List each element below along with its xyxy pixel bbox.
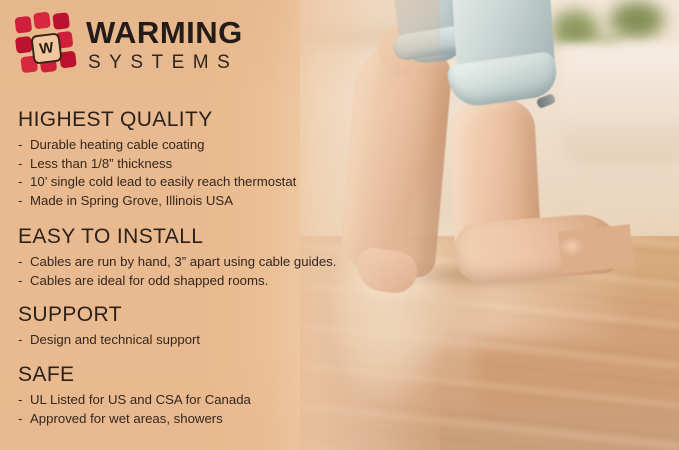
feature-bullet: -Cables are ideal for odd shapped rooms.: [18, 272, 336, 291]
feature-bullet: -Cables are run by hand, 3” apart using …: [18, 253, 336, 272]
section-heading: EASY TO INSTALL: [18, 225, 336, 248]
feature-bullet: -Less than 1/8” thickness: [18, 155, 296, 174]
bullet-marker: -: [18, 192, 22, 211]
feature-bullet-list: -Design and technical support: [18, 331, 200, 350]
feature-bullet: -Approved for wet areas, showers: [18, 410, 251, 429]
feature-bullet: -UL Listed for US and CSA for Canada: [18, 391, 251, 410]
section-heading: HIGHEST QUALITY: [18, 108, 296, 131]
feature-bullet-list: -UL Listed for US and CSA for Canada-App…: [18, 391, 251, 428]
feature-bullet-text: Approved for wet areas, showers: [30, 411, 223, 426]
bullet-marker: -: [18, 331, 22, 350]
bullet-marker: -: [18, 155, 22, 174]
feature-bullet-text: Design and technical support: [30, 332, 200, 347]
feature-bullet-text: Cables are ideal for odd shapped rooms.: [30, 273, 268, 288]
feature-section: SAFE-UL Listed for US and CSA for Canada…: [18, 363, 251, 428]
feature-sections: HIGHEST QUALITY-Durable heating cable co…: [0, 0, 440, 450]
feature-bullet-text: UL Listed for US and CSA for Canada: [30, 392, 251, 407]
feature-bullet-text: Cables are run by hand, 3” apart using c…: [30, 254, 336, 269]
feature-section: SUPPORT-Design and technical support: [18, 303, 200, 350]
feature-bullet-list: -Cables are run by hand, 3” apart using …: [18, 253, 336, 290]
feature-bullet: -Made in Spring Grove, Illinois USA: [18, 192, 296, 211]
bullet-marker: -: [18, 136, 22, 155]
bullet-marker: -: [18, 253, 22, 272]
bullet-marker: -: [18, 173, 22, 192]
feature-bullet-text: Durable heating cable coating: [30, 137, 205, 152]
feature-bullet-text: Less than 1/8” thickness: [30, 156, 172, 171]
section-heading: SUPPORT: [18, 303, 200, 326]
bullet-marker: -: [18, 410, 22, 429]
section-heading: SAFE: [18, 363, 251, 386]
feature-bullet-list: -Durable heating cable coating-Less than…: [18, 136, 296, 210]
feature-bullet-text: Made in Spring Grove, Illinois USA: [30, 193, 233, 208]
product-feature-banner: W WARMING SYSTEMS HIGHEST QUALITY-Durabl…: [0, 0, 679, 450]
feature-section: HIGHEST QUALITY-Durable heating cable co…: [18, 108, 296, 210]
bullet-marker: -: [18, 391, 22, 410]
feature-bullet: -10’ single cold lead to easily reach th…: [18, 173, 296, 192]
bullet-marker: -: [18, 272, 22, 291]
feature-section: EASY TO INSTALL-Cables are run by hand, …: [18, 225, 336, 290]
feature-bullet-text: 10’ single cold lead to easily reach the…: [30, 174, 296, 189]
feature-bullet: -Design and technical support: [18, 331, 200, 350]
feature-bullet: -Durable heating cable coating: [18, 136, 296, 155]
